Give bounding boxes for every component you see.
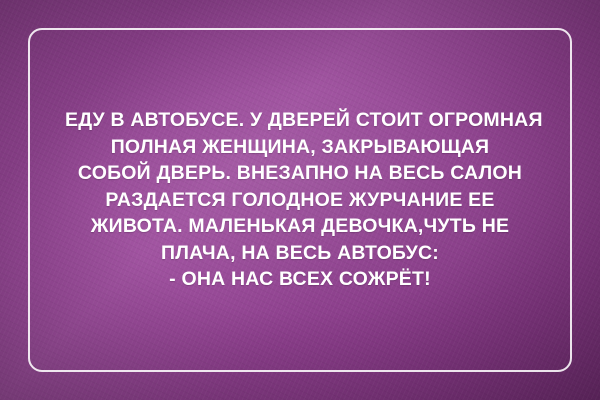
joke-line: ЕДУ В АВТОБУСЕ. У ДВЕРЕЙ СТОИТ ОГРОМНАЯ <box>65 107 535 134</box>
joke-line: ПОЛНАЯ ЖЕНЩИНА, ЗАКРЫВАЮЩАЯ <box>65 134 535 161</box>
joke-line: РАЗДАЕТСЯ ГОЛОДНОЕ ЖУРЧАНИЕ ЕЕ <box>65 187 535 214</box>
joke-line: ЖИВОТА. МАЛЕНЬКАЯ ДЕВОЧКА,ЧУТЬ НЕ <box>65 213 535 240</box>
joke-punchline: - ОНА НАС ВСЕХ СОЖРЁТ! <box>65 266 535 293</box>
joke-text: ЕДУ В АВТОБУСЕ. У ДВЕРЕЙ СТОИТ ОГРОМНАЯ … <box>65 107 535 293</box>
joke-line: ПЛАЧА, НА ВЕСЬ АВТОБУС: <box>65 240 535 267</box>
joke-line: СОБОЙ ДВЕРЬ. ВНЕЗАПНО НА ВЕСЬ САЛОН <box>65 160 535 187</box>
joke-card: ЕДУ В АВТОБУСЕ. У ДВЕРЕЙ СТОИТ ОГРОМНАЯ … <box>0 0 600 400</box>
